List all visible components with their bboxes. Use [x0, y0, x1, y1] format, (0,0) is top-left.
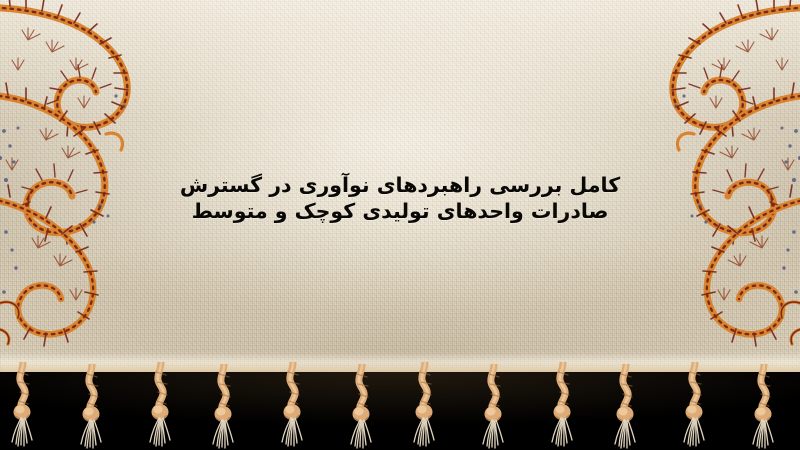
slide-canvas: کامل بررسی راهبردهای نوآوری در گسترش صاد…: [0, 0, 800, 450]
tassel: [613, 364, 639, 450]
tassel: [79, 364, 105, 450]
title-line-2: صادرات واحدهای تولیدی کوچک و متوسط: [0, 198, 800, 224]
tassel: [412, 362, 438, 448]
tassel: [751, 364, 777, 450]
tassel: [349, 364, 375, 450]
tassel: [280, 362, 306, 448]
tassel: [682, 362, 708, 448]
slide-title: کامل بررسی راهبردهای نوآوری در گسترش صاد…: [0, 172, 800, 224]
title-line-1: کامل بررسی راهبردهای نوآوری در گسترش: [0, 172, 800, 198]
tassel-fringe: [0, 360, 800, 450]
tassel: [550, 362, 576, 448]
tassel: [10, 362, 36, 448]
tassel: [211, 364, 237, 450]
tassel: [148, 362, 174, 448]
tassel: [481, 364, 507, 450]
